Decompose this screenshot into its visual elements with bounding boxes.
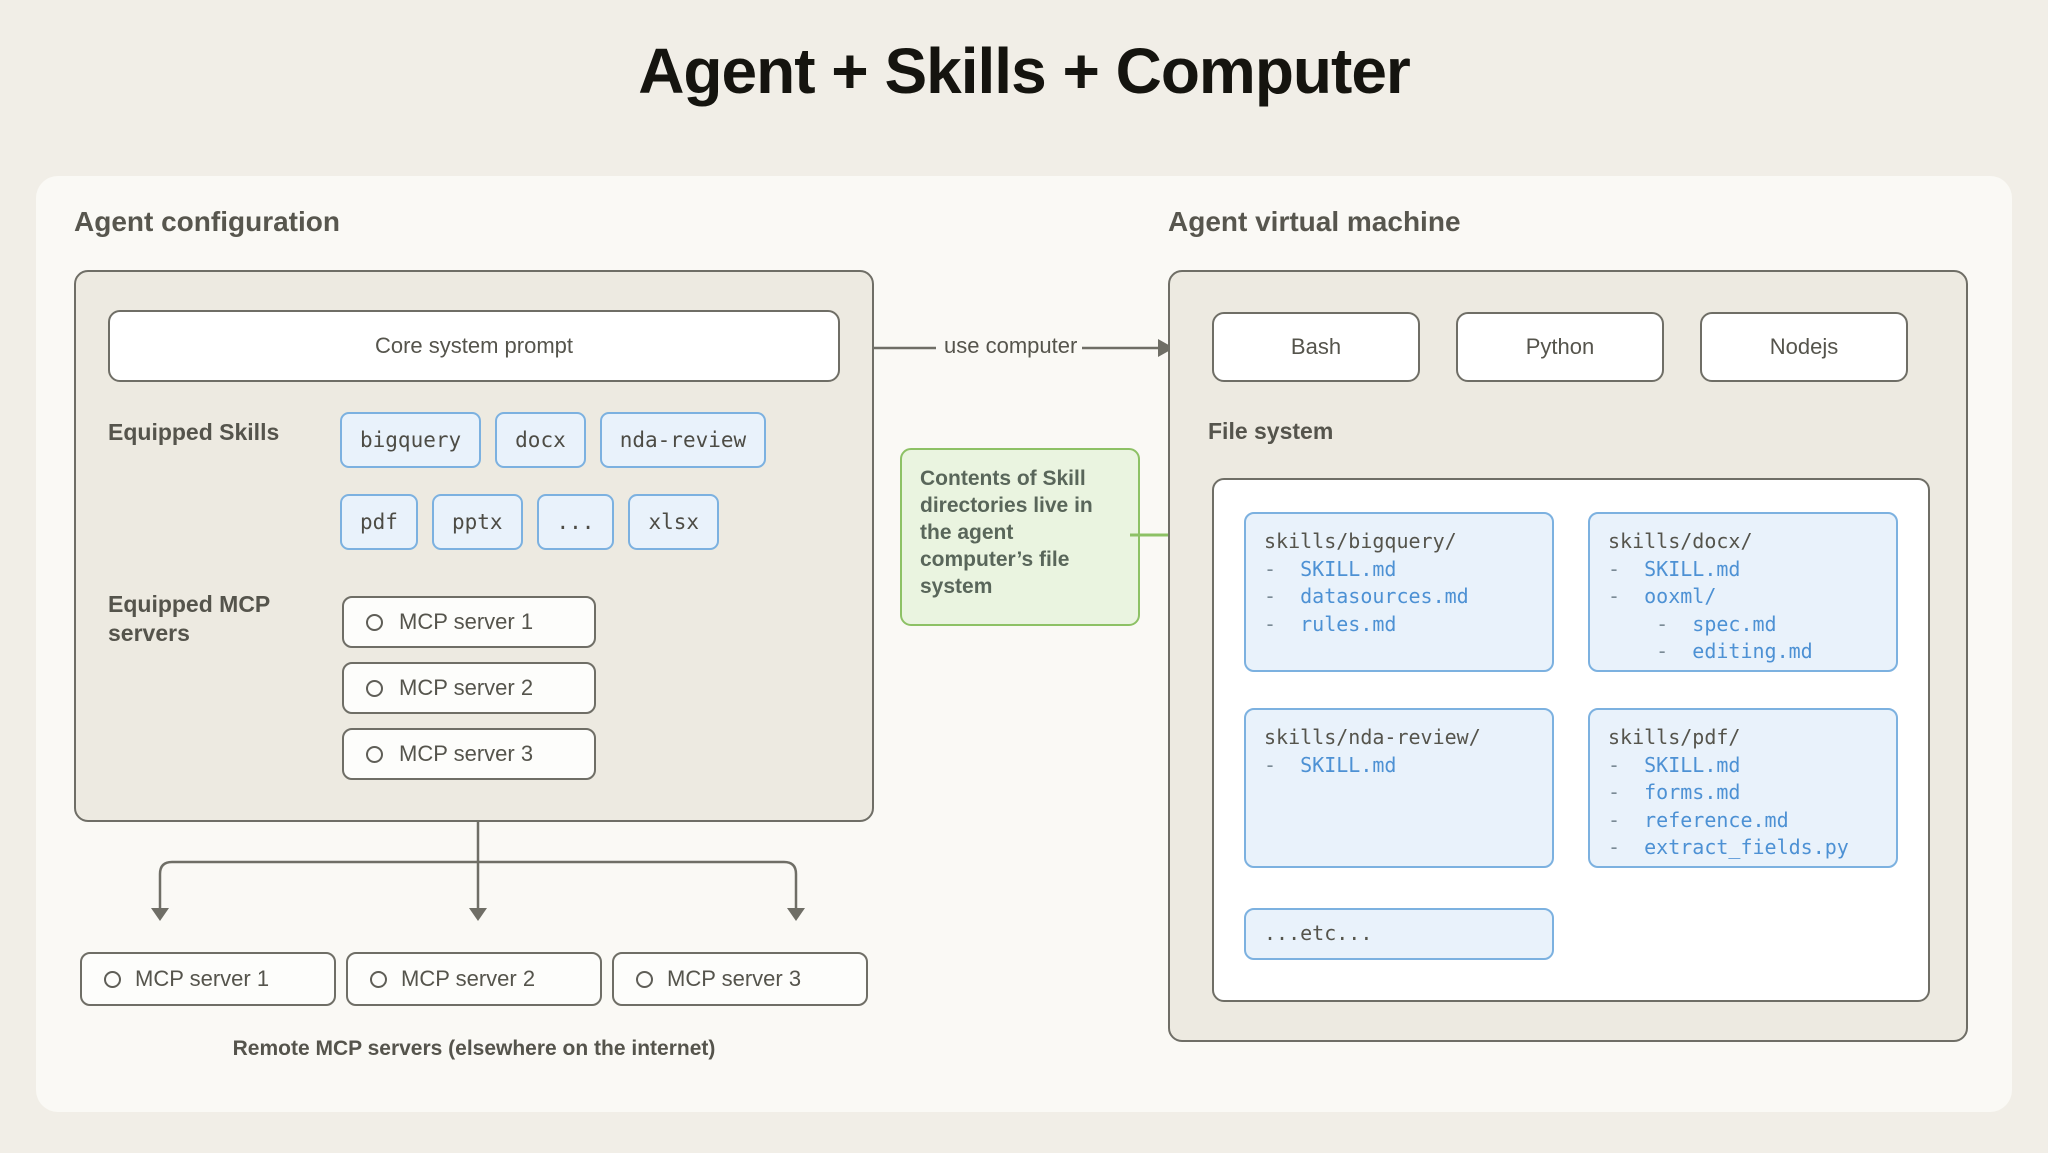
equipped-skills-row-1: bigquery docx nda-review (340, 412, 766, 468)
remote-mcp-server-label: MCP server 3 (667, 966, 801, 992)
skill-file-name: SKILL.md (1644, 753, 1740, 777)
skill-file-name: SKILL.md (1300, 753, 1396, 777)
skill-directory-entry: - SKILL.md (1608, 752, 1878, 780)
circle-icon (104, 971, 121, 988)
skill-directory-entry: - SKILL.md (1264, 556, 1534, 584)
bullet-dash-icon: - (1264, 557, 1300, 581)
runtime-chip-nodejs[interactable]: Nodejs (1700, 312, 1908, 382)
mcp-server-item-1[interactable]: MCP server 1 (342, 596, 596, 648)
etc-label: ...etc... (1264, 920, 1372, 948)
remote-mcp-server-label: MCP server 2 (401, 966, 535, 992)
skill-directory-entry: - forms.md (1608, 779, 1878, 807)
skill-chip-more[interactable]: ... (537, 494, 615, 550)
skill-file-name: datasources.md (1300, 584, 1469, 608)
skill-file-name: reference.md (1644, 808, 1789, 832)
remote-mcp-server-list: MCP server 1 MCP server 2 MCP server 3 (80, 952, 868, 1006)
skill-file-name: spec.md (1692, 612, 1776, 636)
equipped-skills-label: Equipped Skills (108, 418, 318, 447)
runtime-chip-row: Bash Python Nodejs (1212, 312, 1908, 382)
circle-icon (366, 614, 383, 631)
mcp-server-label: MCP server 1 (399, 609, 533, 635)
skill-file-name: SKILL.md (1644, 557, 1740, 581)
skill-directory-path: skills/bigquery/ (1264, 528, 1534, 556)
skill-directory-entry: - SKILL.md (1264, 752, 1534, 780)
diagram-canvas: Agent + Skills + Computer Agent configur… (0, 0, 2048, 1153)
skill-chip-bigquery[interactable]: bigquery (340, 412, 481, 468)
skill-directory-card-pdf[interactable]: skills/pdf/- SKILL.md- forms.md- referen… (1588, 708, 1898, 868)
skill-directory-card-docx[interactable]: skills/docx/- SKILL.md- ooxml/ - spec.md… (1588, 512, 1898, 672)
skill-directory-card-bigquery[interactable]: skills/bigquery/- SKILL.md- datasources.… (1244, 512, 1554, 672)
equipped-mcp-server-list: MCP server 1 MCP server 2 MCP server 3 (342, 596, 596, 780)
equipped-mcp-servers-label: Equipped MCP servers (108, 590, 308, 648)
bullet-dash-icon: - (1264, 584, 1300, 608)
remote-mcp-server-item-3[interactable]: MCP server 3 (612, 952, 868, 1006)
page-title: Agent + Skills + Computer (0, 34, 2048, 108)
skill-chip-pdf[interactable]: pdf (340, 494, 418, 550)
remote-mcp-server-item-2[interactable]: MCP server 2 (346, 952, 602, 1006)
skill-file-name: editing.md (1692, 639, 1812, 663)
mcp-branch-connector (120, 820, 840, 940)
agent-configuration-heading: Agent configuration (74, 206, 340, 238)
bullet-dash-icon: - (1608, 557, 1644, 581)
bullet-dash-icon: - (1608, 639, 1692, 663)
skill-directory-path: skills/docx/ (1608, 528, 1878, 556)
skill-directories-callout: Contents of Skill directories live in th… (900, 448, 1140, 626)
bullet-dash-icon: - (1608, 808, 1644, 832)
skill-directory-entry: - editing.md (1608, 638, 1878, 666)
skill-directory-entry: - spec.md (1608, 611, 1878, 639)
mcp-server-label: MCP server 2 (399, 675, 533, 701)
skill-file-name: ooxml/ (1644, 584, 1716, 608)
runtime-chip-bash[interactable]: Bash (1212, 312, 1420, 382)
skill-chip-pptx[interactable]: pptx (432, 494, 523, 550)
skill-file-name: rules.md (1300, 612, 1396, 636)
skill-directory-entry: - reference.md (1608, 807, 1878, 835)
bullet-dash-icon: - (1608, 780, 1644, 804)
bullet-dash-icon: - (1608, 612, 1692, 636)
file-system-label: File system (1208, 418, 1333, 445)
skill-chip-nda-review[interactable]: nda-review (600, 412, 766, 468)
bullet-dash-icon: - (1608, 753, 1644, 777)
agent-virtual-machine-heading: Agent virtual machine (1168, 206, 1461, 238)
remote-mcp-server-label: MCP server 1 (135, 966, 269, 992)
remote-mcp-server-item-1[interactable]: MCP server 1 (80, 952, 336, 1006)
bullet-dash-icon: - (1264, 612, 1300, 636)
bullet-dash-icon: - (1608, 584, 1644, 608)
skill-file-name: SKILL.md (1300, 557, 1396, 581)
core-system-prompt-label: Core system prompt (375, 333, 573, 359)
runtime-chip-python[interactable]: Python (1456, 312, 1664, 382)
skill-file-name: forms.md (1644, 780, 1740, 804)
mcp-server-item-2[interactable]: MCP server 2 (342, 662, 596, 714)
skill-directory-path: skills/pdf/ (1608, 724, 1878, 752)
use-computer-label: use computer (944, 333, 1077, 359)
equipped-skills-row-2: pdf pptx ... xlsx (340, 494, 719, 550)
skill-chip-docx[interactable]: docx (495, 412, 586, 468)
skill-directory-path: skills/nda-review/ (1264, 724, 1534, 752)
skill-directory-entry: - rules.md (1264, 611, 1534, 639)
skill-directory-entry: - datasources.md (1264, 583, 1534, 611)
skill-directory-entry: - ooxml/ (1608, 583, 1878, 611)
circle-icon (636, 971, 653, 988)
skill-file-name: extract_fields.py (1644, 835, 1849, 859)
core-system-prompt-box: Core system prompt (108, 310, 840, 382)
circle-icon (370, 971, 387, 988)
bullet-dash-icon: - (1264, 753, 1300, 777)
skill-directory-card-etc[interactable]: ...etc... (1244, 908, 1554, 960)
skill-chip-xlsx[interactable]: xlsx (628, 494, 719, 550)
mcp-server-item-3[interactable]: MCP server 3 (342, 728, 596, 780)
skill-directory-card-nda-review[interactable]: skills/nda-review/- SKILL.md (1244, 708, 1554, 868)
circle-icon (366, 680, 383, 697)
skill-directory-entry: - SKILL.md (1608, 556, 1878, 584)
skill-directory-entry: - extract_fields.py (1608, 834, 1878, 862)
mcp-server-label: MCP server 3 (399, 741, 533, 767)
bullet-dash-icon: - (1608, 835, 1644, 859)
circle-icon (366, 746, 383, 763)
remote-mcp-servers-caption: Remote MCP servers (elsewhere on the int… (80, 1037, 868, 1061)
